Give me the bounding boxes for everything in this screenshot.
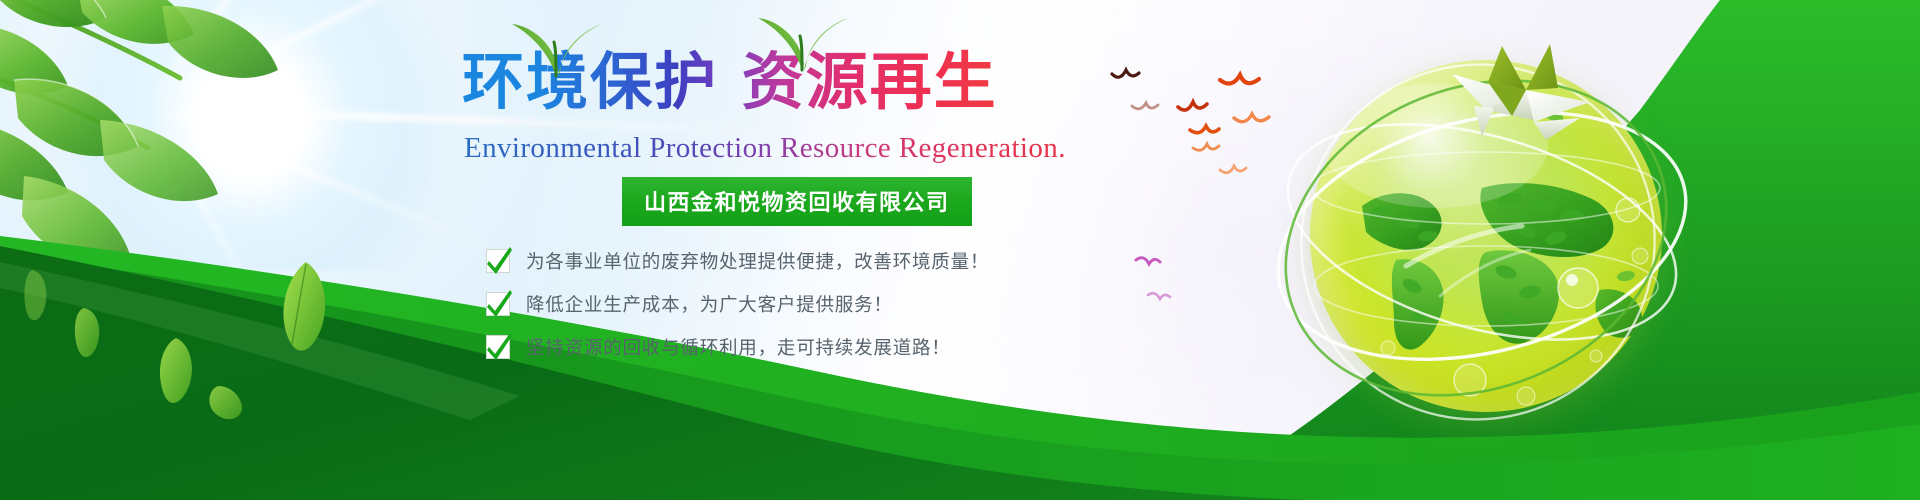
- eco-recycling-banner: 环境保护 资源再生: [0, 0, 1920, 500]
- list-item: 降低企业生产成本，为广大客户提供服务！: [486, 291, 1120, 317]
- headline-text: 环境保护 资源再生: [462, 45, 998, 118]
- bird-icon: [1178, 102, 1207, 110]
- bird-icon: [1220, 75, 1259, 84]
- list-item: 为各事业单位的废弃物处理提供便捷，改善环境质量！: [486, 248, 1120, 274]
- company-name-badge: 山西金和悦物资回收有限公司: [622, 177, 972, 226]
- bird-icon: [1193, 144, 1219, 150]
- green-eco-globe: [1280, 38, 1690, 448]
- subtitle: Environmental Protection Resource Regene…: [464, 132, 1120, 165]
- headline: 环境保护 资源再生: [462, 34, 1120, 130]
- bird-icon: [1136, 258, 1160, 264]
- check-icon: [486, 292, 510, 316]
- feature-list: 为各事业单位的废弃物处理提供便捷，改善环境质量！ 降低企业生产成本，为广大客户提…: [486, 248, 1120, 360]
- paper-crane-icon: [1430, 44, 1610, 164]
- bird-icon: [1148, 293, 1170, 299]
- bird-icon: [1190, 126, 1219, 133]
- check-icon: [486, 335, 510, 359]
- check-icon: [486, 249, 510, 273]
- list-item: 坚持资源的回收与循环利用，走可持续发展道路！: [486, 334, 1120, 360]
- list-item-label: 坚持资源的回收与循环利用，走可持续发展道路！: [526, 334, 951, 360]
- bird-icon: [1220, 166, 1246, 173]
- bird-icon: [1132, 103, 1158, 109]
- list-item-label: 降低企业生产成本，为广大客户提供服务！: [526, 291, 893, 317]
- leaf-icon: [24, 262, 325, 419]
- banner-text-block: 环境保护 资源再生: [440, 34, 1120, 377]
- list-item-label: 为各事业单位的废弃物处理提供便捷，改善环境质量！: [526, 248, 989, 274]
